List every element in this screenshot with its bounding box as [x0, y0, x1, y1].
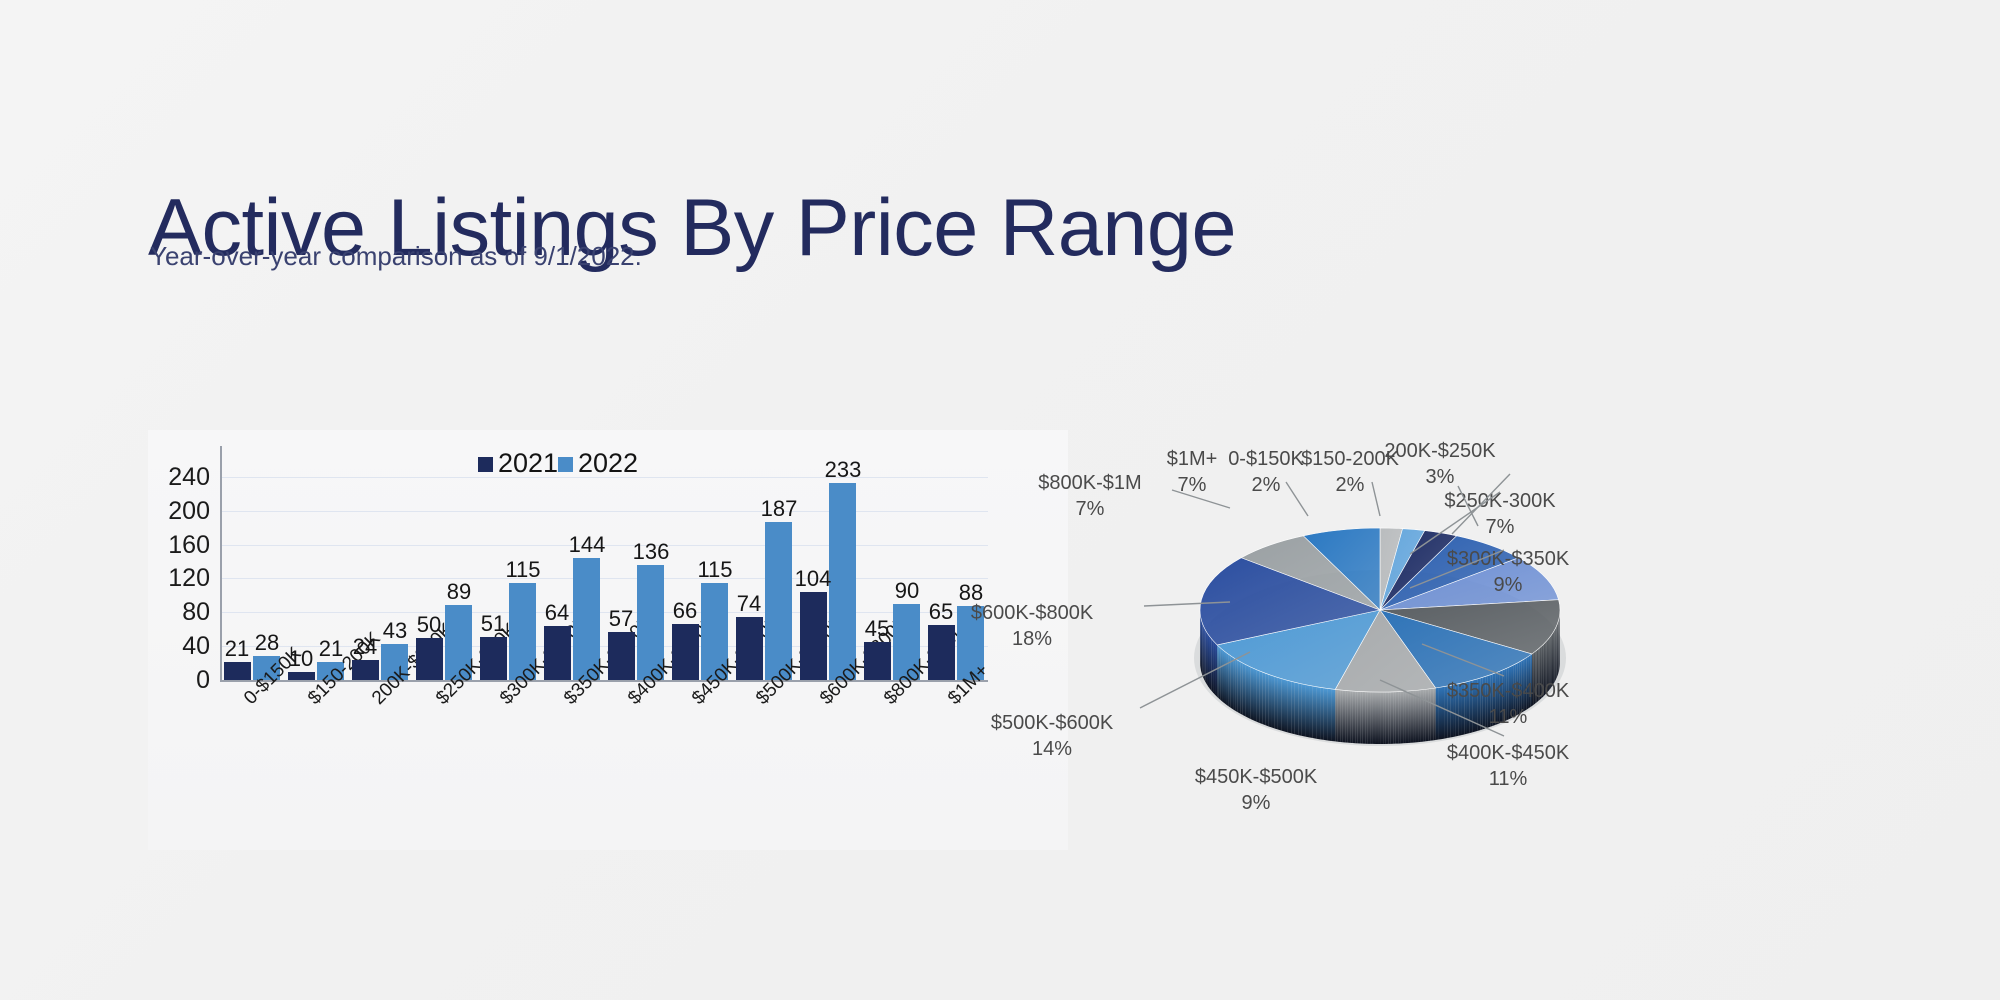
pie-label-name: $400K-$450K — [1447, 742, 1569, 764]
pie-callout-0-$150K: 0-$150K2% — [1228, 446, 1304, 498]
pie-label-name: $300K-$350K — [1447, 548, 1569, 570]
pie-label-pct: 7% — [1076, 498, 1105, 520]
y-axis-tick-label: 80 — [150, 598, 210, 627]
y-axis-tick-label: 200 — [150, 497, 210, 526]
bar-2021[interactable] — [416, 638, 443, 680]
pie-label-pct: 11% — [1489, 768, 1528, 790]
pie-label-name: 200K-$250K — [1384, 440, 1495, 462]
y-axis-tick-label: 160 — [150, 531, 210, 560]
legend-label: 2021 — [498, 448, 558, 478]
legend-swatch — [478, 457, 493, 472]
bar-value-label-2021: 66 — [658, 598, 712, 624]
bar-2021[interactable] — [736, 617, 763, 680]
bar-2021[interactable] — [544, 626, 571, 680]
pie-label-name: $1M+ — [1167, 448, 1218, 470]
bar-value-label-2021: 51 — [466, 611, 520, 637]
bar-2021[interactable] — [928, 625, 955, 680]
pie-callout-$1M+: $1M+7% — [1167, 446, 1218, 498]
legend-label: 2022 — [578, 448, 638, 478]
pie-label-pct: 9% — [1242, 792, 1271, 814]
page-subtitle: Year-over-year comparison as of 9/1/2022… — [150, 241, 642, 272]
y-axis-tick-label: 0 — [150, 666, 210, 695]
pie-label-pct: 7% — [1178, 474, 1207, 496]
pie-callout-$400K-$450K: $400K-$450K11% — [1447, 740, 1569, 792]
pie-label-name: $250K-300K — [1444, 490, 1555, 512]
bar-value-label-2021: 57 — [594, 606, 648, 632]
bar-2021[interactable] — [672, 624, 699, 680]
bar-value-label-2022: 115 — [688, 557, 742, 583]
bar-2021[interactable] — [480, 637, 507, 680]
bar-value-label-2021: 104 — [786, 566, 840, 592]
pie-callout-$450K-$500K: $450K-$500K9% — [1195, 764, 1317, 816]
bar-value-label-2022: 136 — [624, 539, 678, 565]
pie-callout-$600K-$800K: $600K-$800K18% — [971, 600, 1093, 652]
bar-value-label-2022: 115 — [496, 557, 550, 583]
bar-value-label-2021: 45 — [850, 616, 904, 642]
legend-item-2022[interactable]: 2022 — [558, 448, 638, 479]
grid-line — [220, 578, 988, 579]
y-axis-tick-label: 240 — [150, 463, 210, 492]
pie-label-pct: 14% — [1032, 738, 1072, 760]
bar-value-label-2022: 144 — [560, 532, 614, 558]
pie-label-name: $500K-$600K — [991, 712, 1113, 734]
bar-value-label-2021: 50 — [402, 612, 456, 638]
pie-label-pct: 11% — [1489, 706, 1528, 728]
pie-label-pct: 18% — [1012, 628, 1052, 650]
pie-label-name: $600K-$800K — [971, 602, 1093, 624]
grid-line — [220, 511, 988, 512]
bar-2021[interactable] — [224, 662, 251, 680]
bar-value-label-2021: 74 — [722, 591, 776, 617]
pie-label-pct: 2% — [1336, 474, 1365, 496]
pie-label-name: $800K-$1M — [1038, 472, 1141, 494]
y-axis-tick-label: 40 — [150, 632, 210, 661]
legend-item-2021[interactable]: 2021 — [478, 448, 558, 479]
pie-callout-$250K-300K: $250K-300K7% — [1444, 488, 1555, 540]
pie-label-pct: 2% — [1252, 474, 1281, 496]
bar-chart-plot-area: 0408012016020024021280-$150K1021$150-200… — [148, 430, 1068, 850]
pie-label-pct: 9% — [1494, 574, 1523, 596]
bar-2021[interactable] — [864, 642, 891, 680]
pie-chart-panel: $800K-$1M7%$1M+7%0-$150K2%$150-200K2%200… — [1080, 430, 1960, 860]
bar-value-label-2022: 89 — [432, 579, 486, 605]
pie-callout-$300K-$350K: $300K-$350K9% — [1447, 546, 1569, 598]
legend-swatch — [558, 457, 573, 472]
pie-callout-$350K-$400K: $350K-$400K11% — [1447, 678, 1569, 730]
bar-value-label-2022: 187 — [752, 496, 806, 522]
pie-callout-$800K-$1M: $800K-$1M7% — [1038, 470, 1141, 522]
pie-label-pct: 7% — [1486, 516, 1515, 538]
bar-value-label-2022: 233 — [816, 457, 870, 483]
bar-2021[interactable] — [800, 592, 827, 680]
pie-label-name: $450K-$500K — [1195, 766, 1317, 788]
bar-chart-panel: 0408012016020024021280-$150K1021$150-200… — [148, 430, 1068, 850]
pie-label-name: 0-$150K — [1228, 448, 1304, 470]
y-axis-tick-label: 120 — [150, 564, 210, 593]
bar-2021[interactable] — [288, 672, 315, 680]
pie-label-name: $350K-$400K — [1447, 680, 1569, 702]
bar-2021[interactable] — [352, 660, 379, 680]
bar-value-label-2021: 64 — [530, 600, 584, 626]
bar-2021[interactable] — [608, 632, 635, 680]
pie-callout-$500K-$600K: $500K-$600K14% — [991, 710, 1113, 762]
pie-callout-200K-$250K: 200K-$250K3% — [1384, 438, 1495, 490]
pie-label-pct: 3% — [1426, 466, 1455, 488]
